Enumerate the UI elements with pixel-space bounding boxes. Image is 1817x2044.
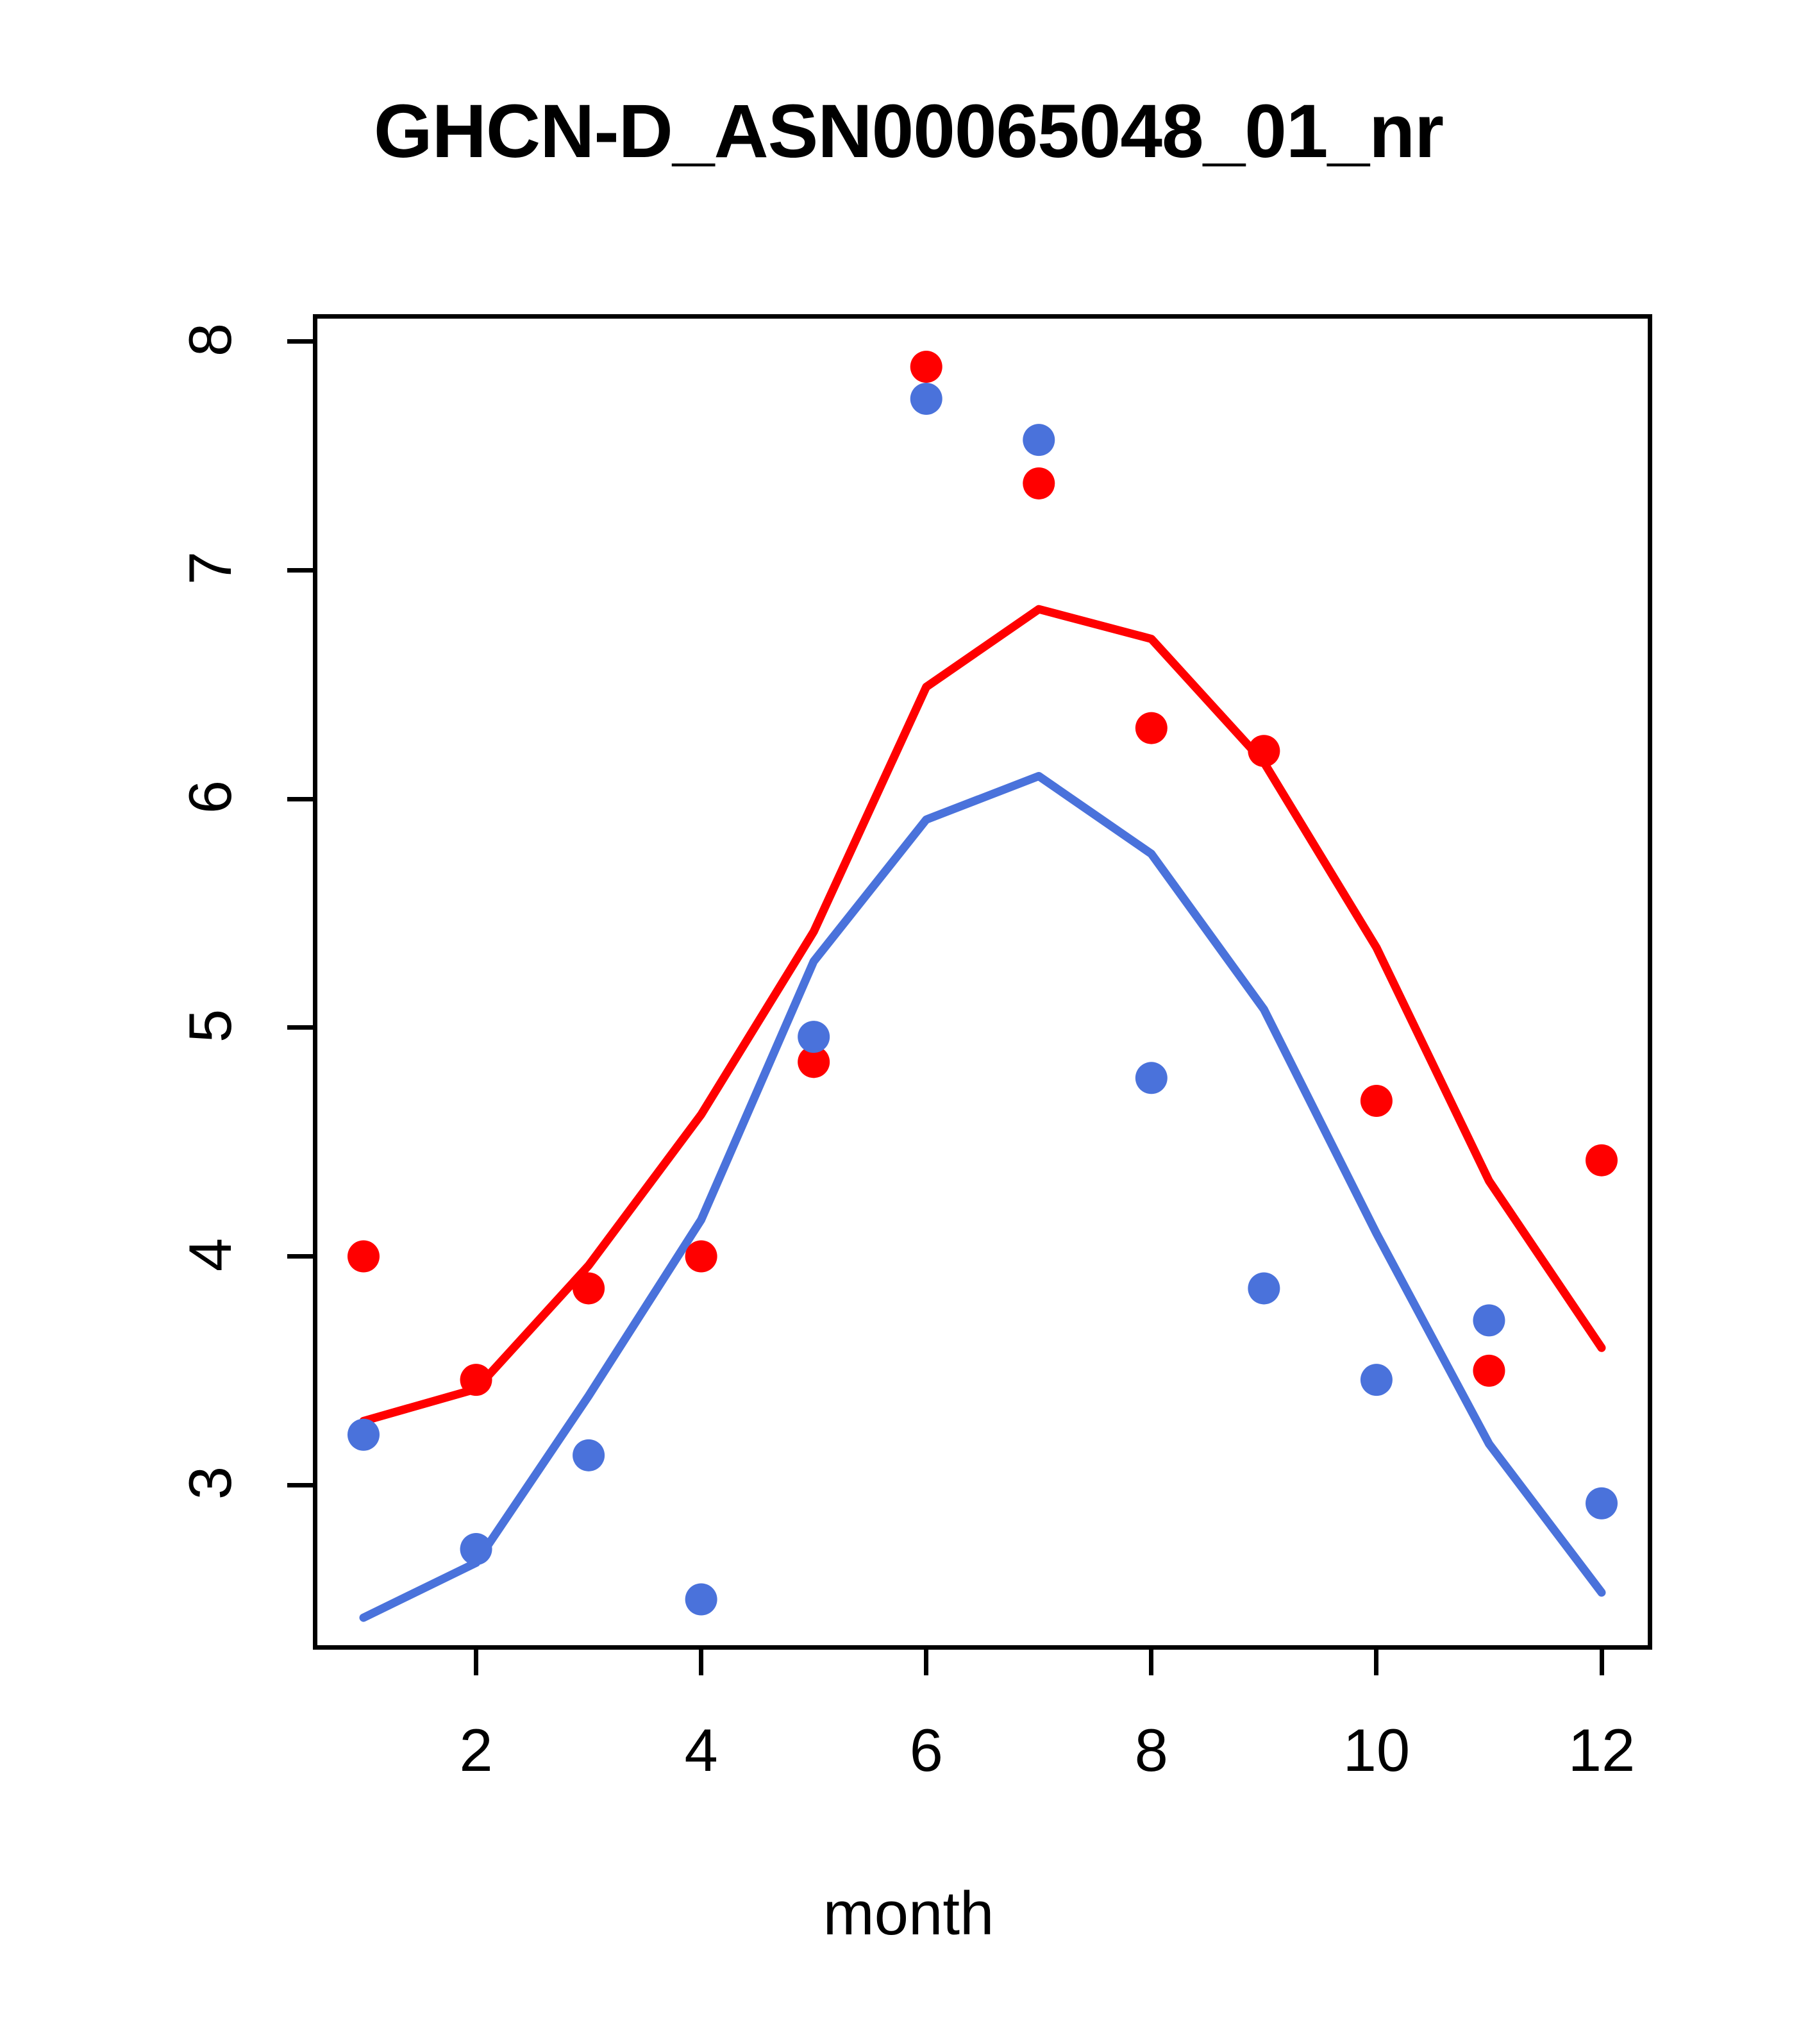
- data-point: [1248, 735, 1280, 767]
- y-tick-label: 4: [180, 1191, 240, 1319]
- data-point: [910, 351, 942, 383]
- x-tick-label: 2: [380, 1720, 573, 1780]
- x-tick-label: 4: [605, 1720, 798, 1780]
- data-point: [347, 1419, 380, 1451]
- x-tick-mark: [699, 1650, 703, 1675]
- y-tick-mark: [287, 568, 313, 573]
- data-point: [1473, 1355, 1505, 1387]
- data-point: [685, 1241, 717, 1273]
- plot-canvas: [313, 314, 1652, 1650]
- x-tick-mark: [1374, 1650, 1378, 1675]
- x-tick-mark: [1149, 1650, 1153, 1675]
- data-point: [460, 1533, 492, 1565]
- y-tick-mark: [287, 1483, 313, 1487]
- data-point: [1023, 424, 1055, 456]
- y-tick-mark: [287, 797, 313, 801]
- y-tick-label: 5: [180, 962, 240, 1090]
- y-tick-label: 8: [180, 276, 240, 404]
- data-point: [573, 1439, 605, 1471]
- data-point: [460, 1364, 492, 1396]
- data-point: [1361, 1085, 1393, 1117]
- data-point: [1361, 1364, 1393, 1396]
- x-tick-label: 12: [1505, 1720, 1698, 1780]
- chart-page: GHCN-D_ASN00065048_01_nr 34567824681012 …: [0, 0, 1817, 2044]
- data-point: [798, 1021, 830, 1053]
- y-tick-mark: [287, 1025, 313, 1030]
- x-tick-label: 10: [1280, 1720, 1473, 1780]
- data-point: [1586, 1487, 1618, 1520]
- data-point: [1023, 467, 1055, 499]
- x-tick-mark: [924, 1650, 928, 1675]
- series-line-blue-line: [364, 776, 1602, 1618]
- plot-area: [313, 314, 1652, 1650]
- x-axis-label: month: [0, 1879, 1817, 1949]
- y-tick-mark: [287, 339, 313, 344]
- x-tick-label: 8: [1055, 1720, 1248, 1780]
- data-point: [910, 383, 942, 415]
- data-point: [1473, 1304, 1505, 1336]
- y-tick-label: 7: [180, 504, 240, 632]
- y-tick-label: 6: [180, 733, 240, 861]
- data-point: [1586, 1144, 1618, 1177]
- x-tick-label: 6: [830, 1720, 1023, 1780]
- data-point: [573, 1272, 605, 1304]
- x-tick-mark: [474, 1650, 478, 1675]
- data-point: [1135, 1062, 1168, 1094]
- chart-title: GHCN-D_ASN00065048_01_nr: [0, 94, 1817, 169]
- y-tick-label: 3: [180, 1419, 240, 1547]
- data-point: [1135, 712, 1168, 744]
- data-point: [685, 1584, 717, 1616]
- data-point: [1248, 1272, 1280, 1304]
- data-point: [347, 1241, 380, 1273]
- x-tick-mark: [1600, 1650, 1604, 1675]
- y-tick-mark: [287, 1254, 313, 1259]
